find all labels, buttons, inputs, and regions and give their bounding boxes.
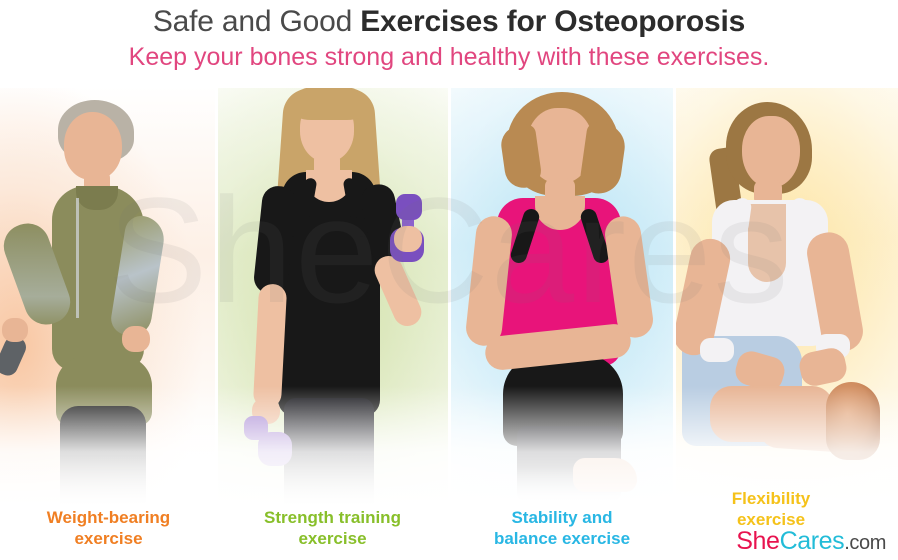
hair-top xyxy=(292,86,366,120)
logo-cares-text: Cares xyxy=(780,527,845,555)
caption-strength-training: Strength training exercise xyxy=(220,507,445,549)
caption-weight-bearing-line2: exercise xyxy=(6,528,211,549)
wrist-cuff-left xyxy=(700,338,734,362)
caption-weight-bearing: Weight-bearing exercise xyxy=(6,507,211,549)
panel-flexibility[interactable] xyxy=(676,86,898,506)
panel-bottom-fade xyxy=(451,386,673,506)
panel-stability-balance[interactable] xyxy=(451,86,673,506)
dumbbell-raised-top-weight xyxy=(396,194,422,220)
back-hand xyxy=(122,326,150,352)
header: Safe and Good Exercises for Osteoporosis… xyxy=(0,0,898,88)
caption-flexibility: Flexibility exercise xyxy=(676,488,866,530)
jacket-zipper xyxy=(76,198,79,318)
panel-strength-training[interactable] xyxy=(218,86,448,506)
front-hand xyxy=(2,318,28,342)
caption-stability-balance: Stability and balance exercise xyxy=(452,507,672,549)
caption-strength-training-line1: Strength training xyxy=(220,507,445,528)
shecares-logo[interactable]: SheCares.com xyxy=(736,527,886,556)
caption-strength-training-line2: exercise xyxy=(220,528,445,549)
caption-weight-bearing-line1: Weight-bearing xyxy=(6,507,211,528)
logo-she-text: She xyxy=(736,527,779,555)
page-title-light: Safe and Good xyxy=(153,5,360,38)
caption-stability-balance-line1: Stability and xyxy=(452,507,672,528)
hand-right xyxy=(797,346,849,389)
page-subtitle: Keep your bones strong and healthy with … xyxy=(0,41,898,72)
hair-fringe-right xyxy=(578,122,627,197)
caption-stability-balance-line2: balance exercise xyxy=(452,528,672,549)
head xyxy=(742,116,800,188)
infographic-canvas: Safe and Good Exercises for Osteoporosis… xyxy=(0,0,898,560)
tank-neckline xyxy=(748,204,786,282)
page-title-bold: Exercises for Osteoporosis xyxy=(360,5,745,38)
panel-bottom-fade xyxy=(0,386,215,506)
logo-com-text: .com xyxy=(844,532,886,554)
caption-flexibility-line1: Flexibility xyxy=(676,488,866,509)
page-title: Safe and Good Exercises for Osteoporosis xyxy=(0,0,898,41)
panel-bottom-fade xyxy=(218,386,448,506)
hand-right xyxy=(394,226,422,252)
panel-weight-bearing[interactable] xyxy=(0,86,215,506)
